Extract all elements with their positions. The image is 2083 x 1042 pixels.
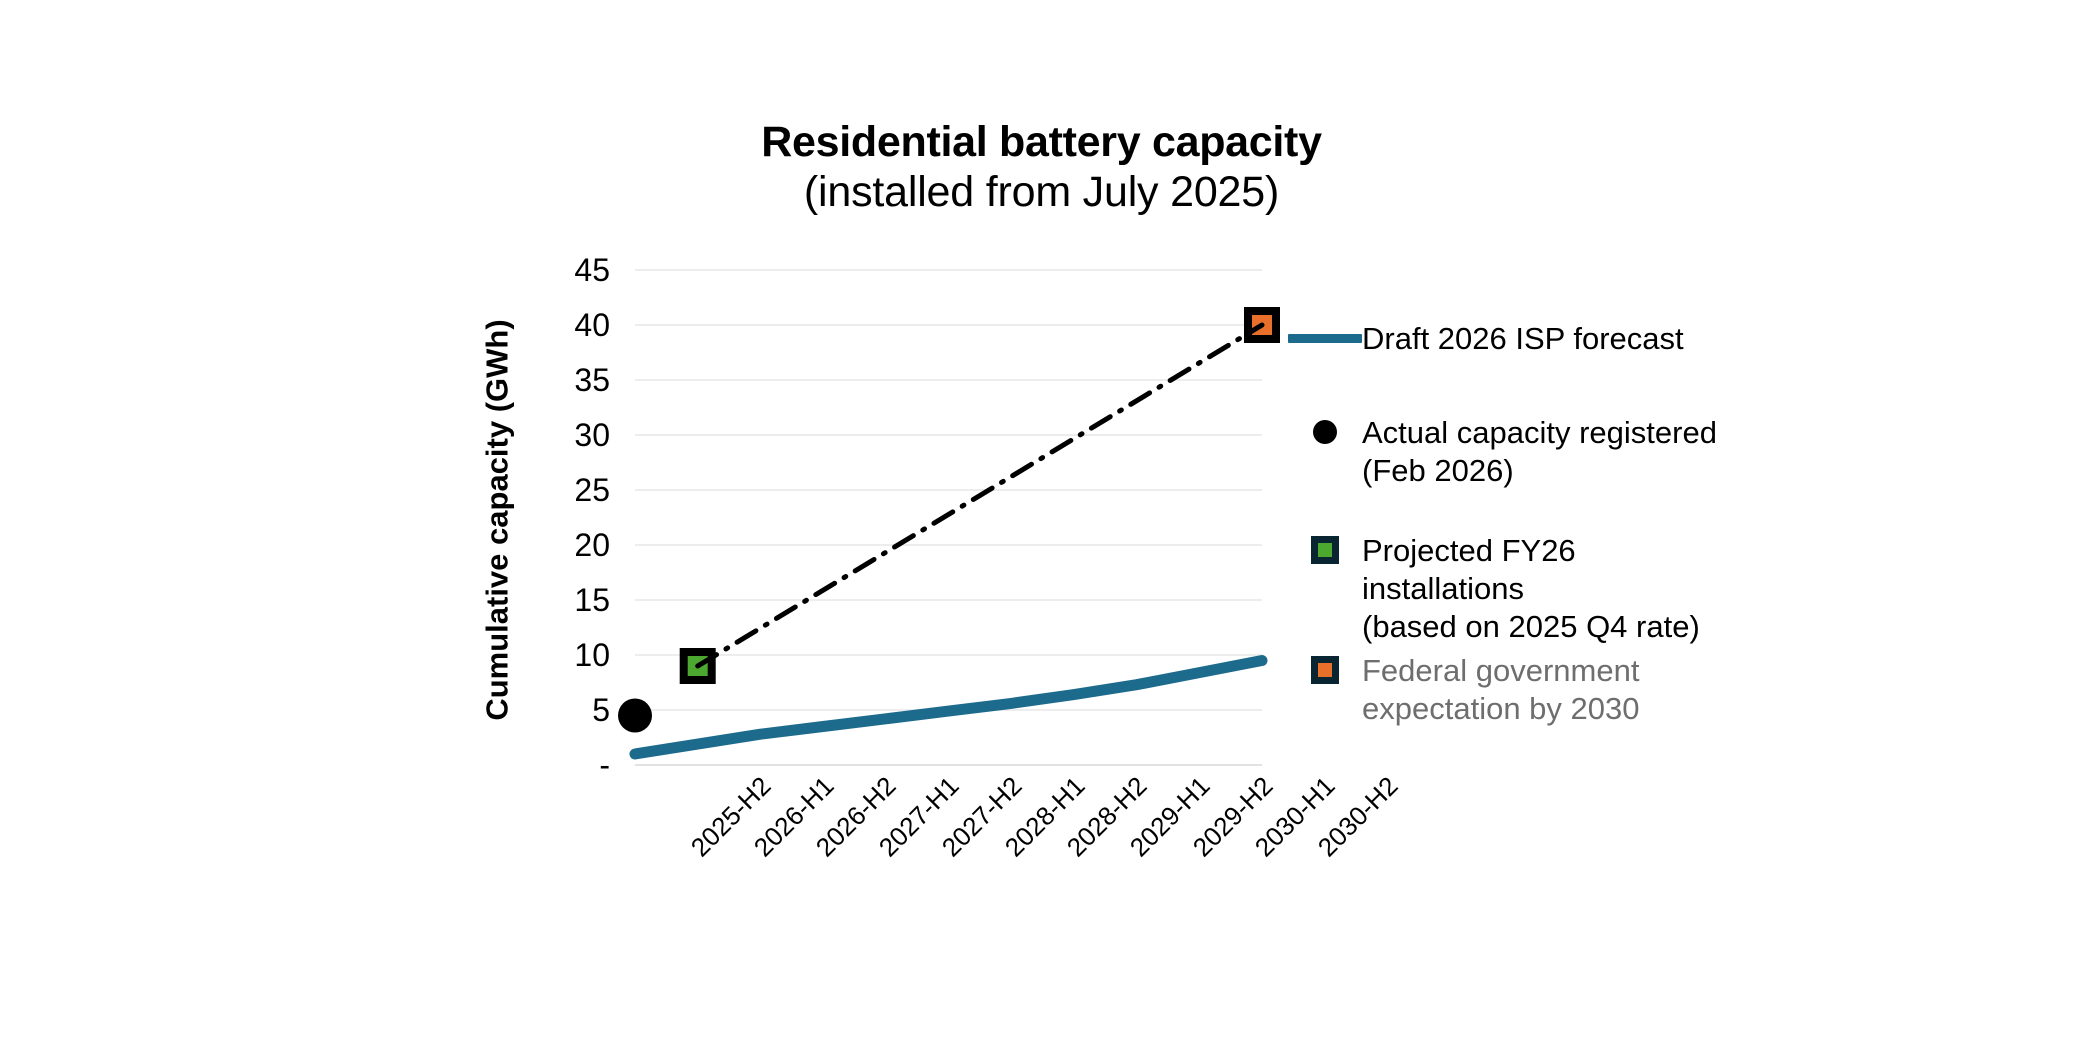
series-line-dashdot xyxy=(698,325,1262,666)
title-block: Residential battery capacity (installed … xyxy=(0,118,2083,218)
legend-marker-federal-government-expectation xyxy=(1288,652,1362,688)
legend-item-actual-capacity-registered[interactable]: Actual capacity registered (Feb 2026) xyxy=(1288,414,1717,490)
dot-swatch-icon xyxy=(1313,420,1337,444)
series-line-solid xyxy=(635,661,1262,755)
y-axis-tick: 20 xyxy=(574,529,610,561)
legend-item-projected-fy26-installations[interactable]: Projected FY26 installations (based on 2… xyxy=(1288,532,1700,645)
page-title: Residential battery capacity xyxy=(0,118,2083,168)
y-axis-tick: 10 xyxy=(574,639,610,671)
legend-label-federal-government-expectation: Federal government expectation by 2030 xyxy=(1362,652,1640,728)
legend-marker-draft-isp-forecast xyxy=(1288,320,1362,356)
y-axis-title-label: Cumulative capacity (GWh) xyxy=(480,319,516,720)
y-axis-tick: 35 xyxy=(574,364,610,396)
legend-marker-projected-fy26-installations xyxy=(1288,532,1362,568)
y-axis-tick: 5 xyxy=(592,694,610,726)
y-axis-tick-labels: 45403530252015105- xyxy=(530,270,622,765)
legend-marker-actual-capacity-registered xyxy=(1288,414,1362,450)
y-axis-tick: 45 xyxy=(574,254,610,286)
y-axis-tick: 25 xyxy=(574,474,610,506)
y-axis-tick: - xyxy=(599,749,610,781)
y-axis-title: Cumulative capacity (GWh) xyxy=(476,250,520,790)
y-axis-tick: 15 xyxy=(574,584,610,616)
x-axis-tick-labels: 2025-H22026-H12026-H22027-H12027-H22028-… xyxy=(635,772,1262,902)
legend-item-draft-isp-forecast[interactable]: Draft 2026 ISP forecast xyxy=(1288,320,1684,358)
legend-label-actual-capacity-registered: Actual capacity registered (Feb 2026) xyxy=(1362,414,1717,490)
y-axis-tick: 30 xyxy=(574,419,610,451)
legend-label-projected-fy26-installations: Projected FY26 installations (based on 2… xyxy=(1362,532,1700,645)
square-swatch-icon xyxy=(1311,536,1339,564)
line-swatch-icon xyxy=(1288,334,1362,343)
plot-area xyxy=(635,270,1262,765)
legend-item-federal-government-expectation[interactable]: Federal government expectation by 2030 xyxy=(1288,652,1640,728)
chart-figure: Residential battery capacity (installed … xyxy=(0,0,2083,1042)
marker-circle xyxy=(618,699,652,733)
chart-subtitle: (installed from July 2025) xyxy=(0,168,2083,218)
legend-label-draft-isp-forecast: Draft 2026 ISP forecast xyxy=(1362,320,1684,358)
y-axis-tick: 40 xyxy=(574,309,610,341)
series-layer xyxy=(635,270,1262,765)
square-swatch-icon xyxy=(1311,656,1339,684)
